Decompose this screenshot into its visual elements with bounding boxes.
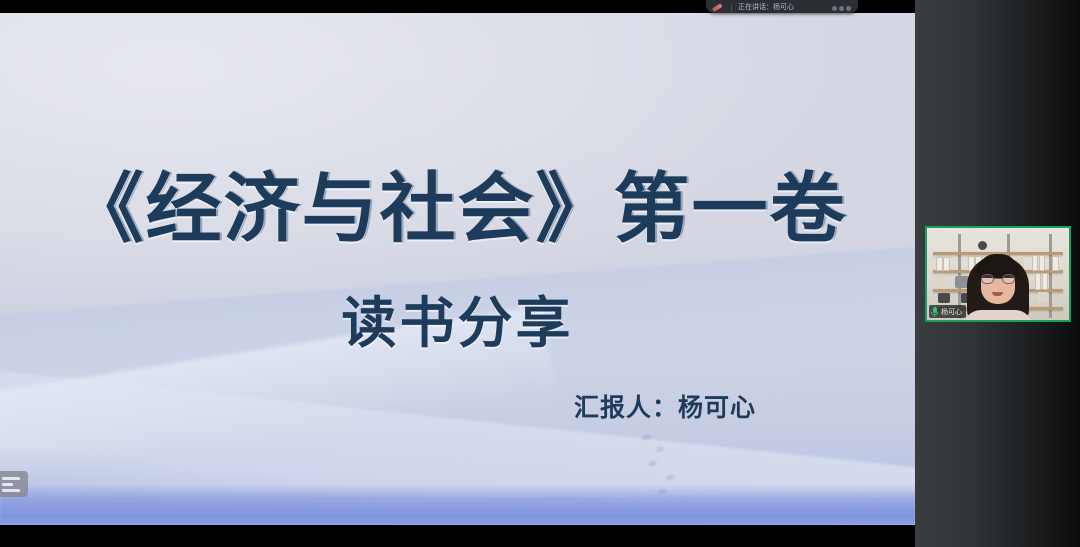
shoulders <box>963 310 1033 322</box>
slide-presenter-line: 汇报人：杨可心 <box>0 388 756 424</box>
screen-share-toolbar[interactable]: 正在讲话：杨可心 <box>706 0 858 13</box>
toolbar-status-label: 正在讲话：杨可心 <box>738 3 826 12</box>
shelf-book <box>1035 273 1041 290</box>
slide-menu-icon[interactable] <box>0 471 28 497</box>
glasses <box>981 274 1015 284</box>
presentation-slide[interactable]: 《经济与社会》第一卷 读书分享 汇报人：杨可心 <box>0 13 915 525</box>
shelf-book <box>1039 255 1045 271</box>
shelf-decor-clock <box>978 241 987 250</box>
slide-subtitle: 读书分享 <box>0 278 915 358</box>
shelf-book <box>1042 273 1048 290</box>
shelf-book <box>1032 255 1038 271</box>
participant-name-badge: 杨可心 <box>929 305 966 318</box>
shelf-decor <box>938 293 950 303</box>
more-options-icon[interactable] <box>832 6 851 12</box>
toolbar-divider <box>731 4 732 12</box>
microphone-on-icon <box>931 307 938 317</box>
participant-avatar <box>965 250 1031 322</box>
shelf-book <box>936 257 943 271</box>
participant-name-label: 杨可心 <box>941 307 962 317</box>
recording-marker-icon[interactable] <box>714 3 725 12</box>
participant-video-tile[interactable]: 杨可心 <box>925 226 1071 322</box>
slide-text-group: 《经济与社会》第一卷 读书分享 汇报人：杨可心 <box>0 13 915 525</box>
slide-title: 《经济与社会》第一卷 <box>0 147 915 257</box>
shared-screen-area[interactable]: 《经济与社会》第一卷 读书分享 汇报人：杨可心 正在讲话：杨可心 <box>0 0 915 547</box>
shelf-box <box>936 275 947 287</box>
shelf-post <box>1049 234 1052 319</box>
shelf-book <box>1052 256 1059 271</box>
screen-share-stage: 杨可心 《经济与社会》第一卷 读书分享 汇报人：杨 <box>0 0 1080 547</box>
meeting-side-panel: 杨可心 <box>915 0 1080 547</box>
shelf-book <box>943 257 950 271</box>
shelf-box <box>1038 292 1048 303</box>
